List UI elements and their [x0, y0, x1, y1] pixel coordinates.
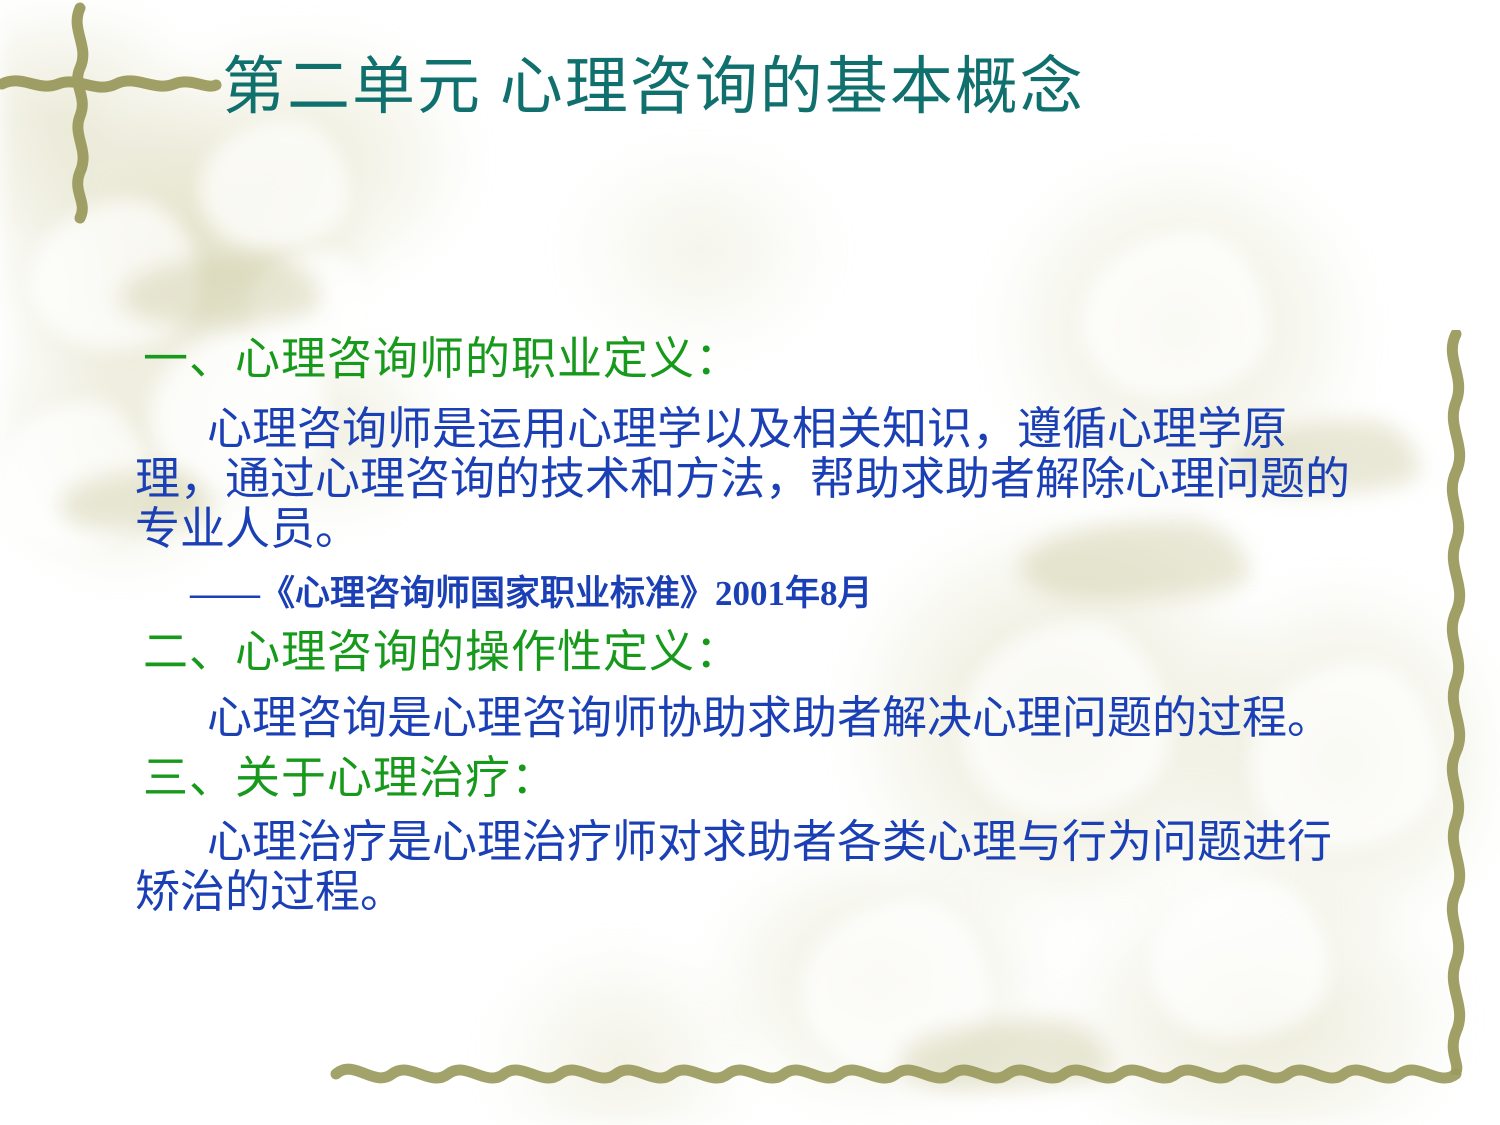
section-body-3: 心理治疗是心理治疗师对求助者各类心理与行为问题进行矫治的过程。: [0, 817, 1500, 918]
section-body-1: 心理咨询师是运用心理学以及相关知识，遵循心理学原理，通过心理咨询的技术和方法，帮…: [0, 404, 1500, 555]
watermark-leaf: [120, 255, 320, 325]
slide-title: 第二单元 心理咨询的基本概念: [222, 52, 1282, 123]
section-body-1-text: 心理咨询师是运用心理学以及相关知识，遵循心理学原理，通过心理咨询的技术和方法，帮…: [135, 404, 1350, 555]
watermark-petal: [800, 900, 990, 1070]
section-heading-2: 二、心理咨询的操作性定义：: [0, 629, 1500, 677]
slide-body: 一、心理咨询师的职业定义： 心理咨询师是运用心理学以及相关知识，遵循心理学原理，…: [0, 336, 1500, 917]
wavy-horizontal-ornament: [330, 1048, 1480, 1098]
section-body-2-text: 心理咨询是心理咨询师协助求助者解决心理问题的过程。: [207, 693, 1332, 743]
section-citation-1: ——《心理咨询师国家职业标准》2001年8月: [0, 573, 1500, 615]
section-heading-3: 三、关于心理治疗：: [0, 755, 1500, 803]
section-body-2: 心理咨询是心理咨询师协助求助者解决心理问题的过程。: [0, 693, 1500, 743]
wavy-cross-ornament: [0, 0, 240, 230]
section-heading-1: 一、心理咨询师的职业定义：: [0, 336, 1500, 384]
section-body-3-text: 心理治疗是心理治疗师对求助者各类心理与行为问题进行矫治的过程。: [135, 817, 1332, 917]
slide-canvas: 第二单元 心理咨询的基本概念 一、心理咨询师的职业定义： 心理咨询师是运用心理学…: [0, 0, 1500, 1125]
